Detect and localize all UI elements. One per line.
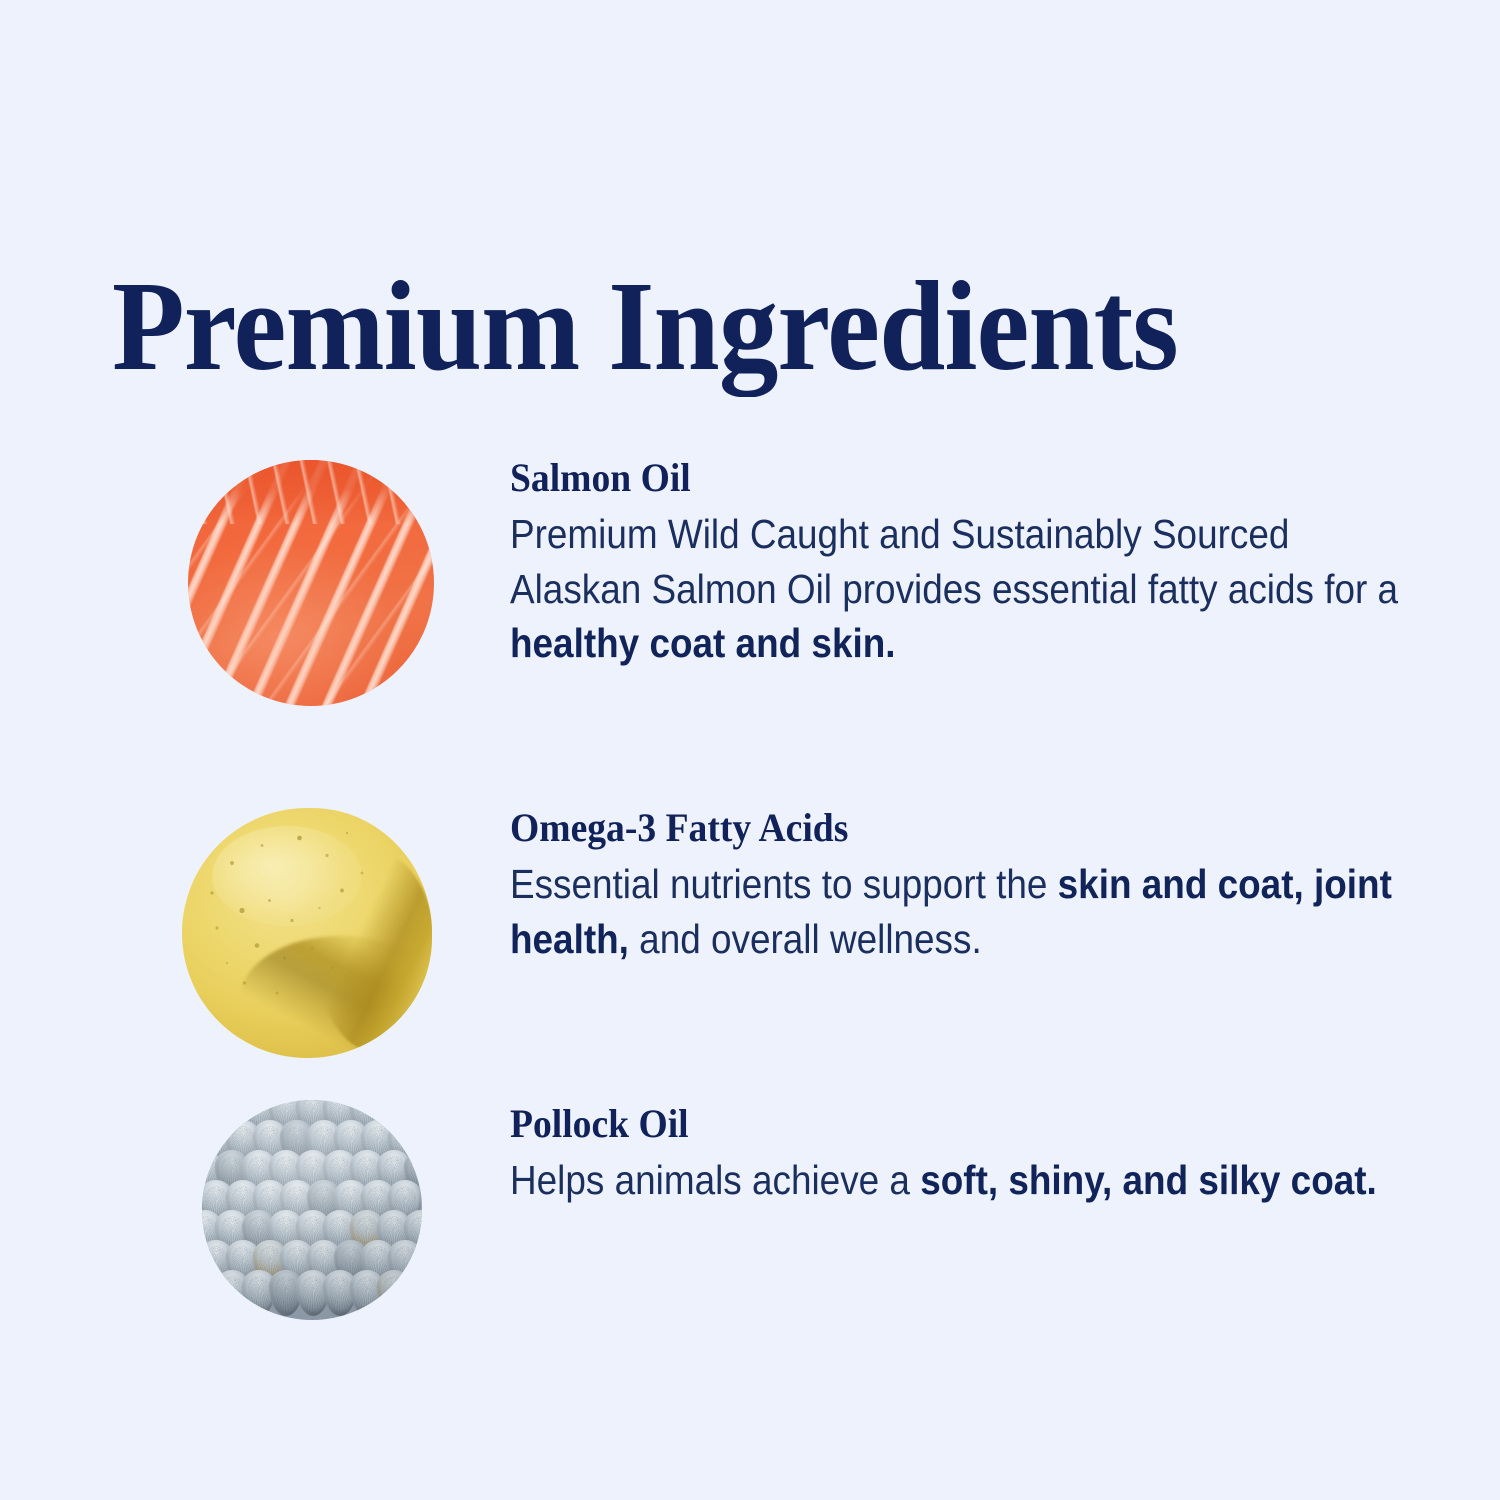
ingredient-text-salmon-oil: Salmon Oil Premium Wild Caught and Susta… [444,452,1420,671]
ingredient-description-pollock-oil: Helps animals achieve a soft, shiny, and… [510,1153,1419,1208]
oil-droplet-wrap [182,808,438,1064]
fish-scales-photo [180,1098,444,1362]
description-lead: Premium Wild Caught and Sustainably Sour… [510,511,1398,612]
description-trail: and overall wellness. [629,916,982,962]
ingredient-description-salmon-oil: Premium Wild Caught and Sustainably Sour… [510,507,1419,671]
fish-scale-row [202,1270,422,1316]
golden-oil-droplet-photo [180,802,444,1066]
oil-droplet-body [182,808,432,1058]
description-emphasis: soft, shiny, and silky coat. [920,1157,1377,1203]
premium-ingredients-infographic: Premium Ingredients Salmon Oil Premium W… [0,0,1500,1500]
ingredient-text-omega-3-fatty-acids: Omega-3 Fatty Acids Essential nutrients … [444,802,1420,966]
description-lead: Essential nutrients to support the [510,861,1058,907]
salmon-fillet-circle [188,460,434,706]
description-emphasis: healthy coat and skin. [510,620,896,666]
ingredient-heading-pollock-oil: Pollock Oil [510,1100,1365,1147]
salmon-sheen [188,460,434,706]
ingredient-item-salmon-oil: Salmon Oil Premium Wild Caught and Susta… [180,452,1420,716]
oil-amber-rim [316,852,432,1052]
ingredient-heading-salmon-oil: Salmon Oil [510,454,1365,501]
description-lead: Helps animals achieve a [510,1157,920,1203]
salmon-fillet-photo [180,452,444,716]
ingredient-item-omega-3-fatty-acids: Omega-3 Fatty Acids Essential nutrients … [180,802,1420,1066]
ingredient-list: Salmon Oil Premium Wild Caught and Susta… [0,0,1500,1500]
ingredient-item-pollock-oil: Pollock Oil Helps animals achieve a soft… [180,1098,1420,1362]
ingredient-text-pollock-oil: Pollock Oil Helps animals achieve a soft… [444,1098,1420,1208]
ingredient-description-omega-3-fatty-acids: Essential nutrients to support the skin … [510,857,1419,966]
ingredient-heading-omega-3-fatty-acids: Omega-3 Fatty Acids [510,804,1365,851]
fish-scales-circle [202,1100,422,1320]
fish-scale [404,1270,422,1316]
